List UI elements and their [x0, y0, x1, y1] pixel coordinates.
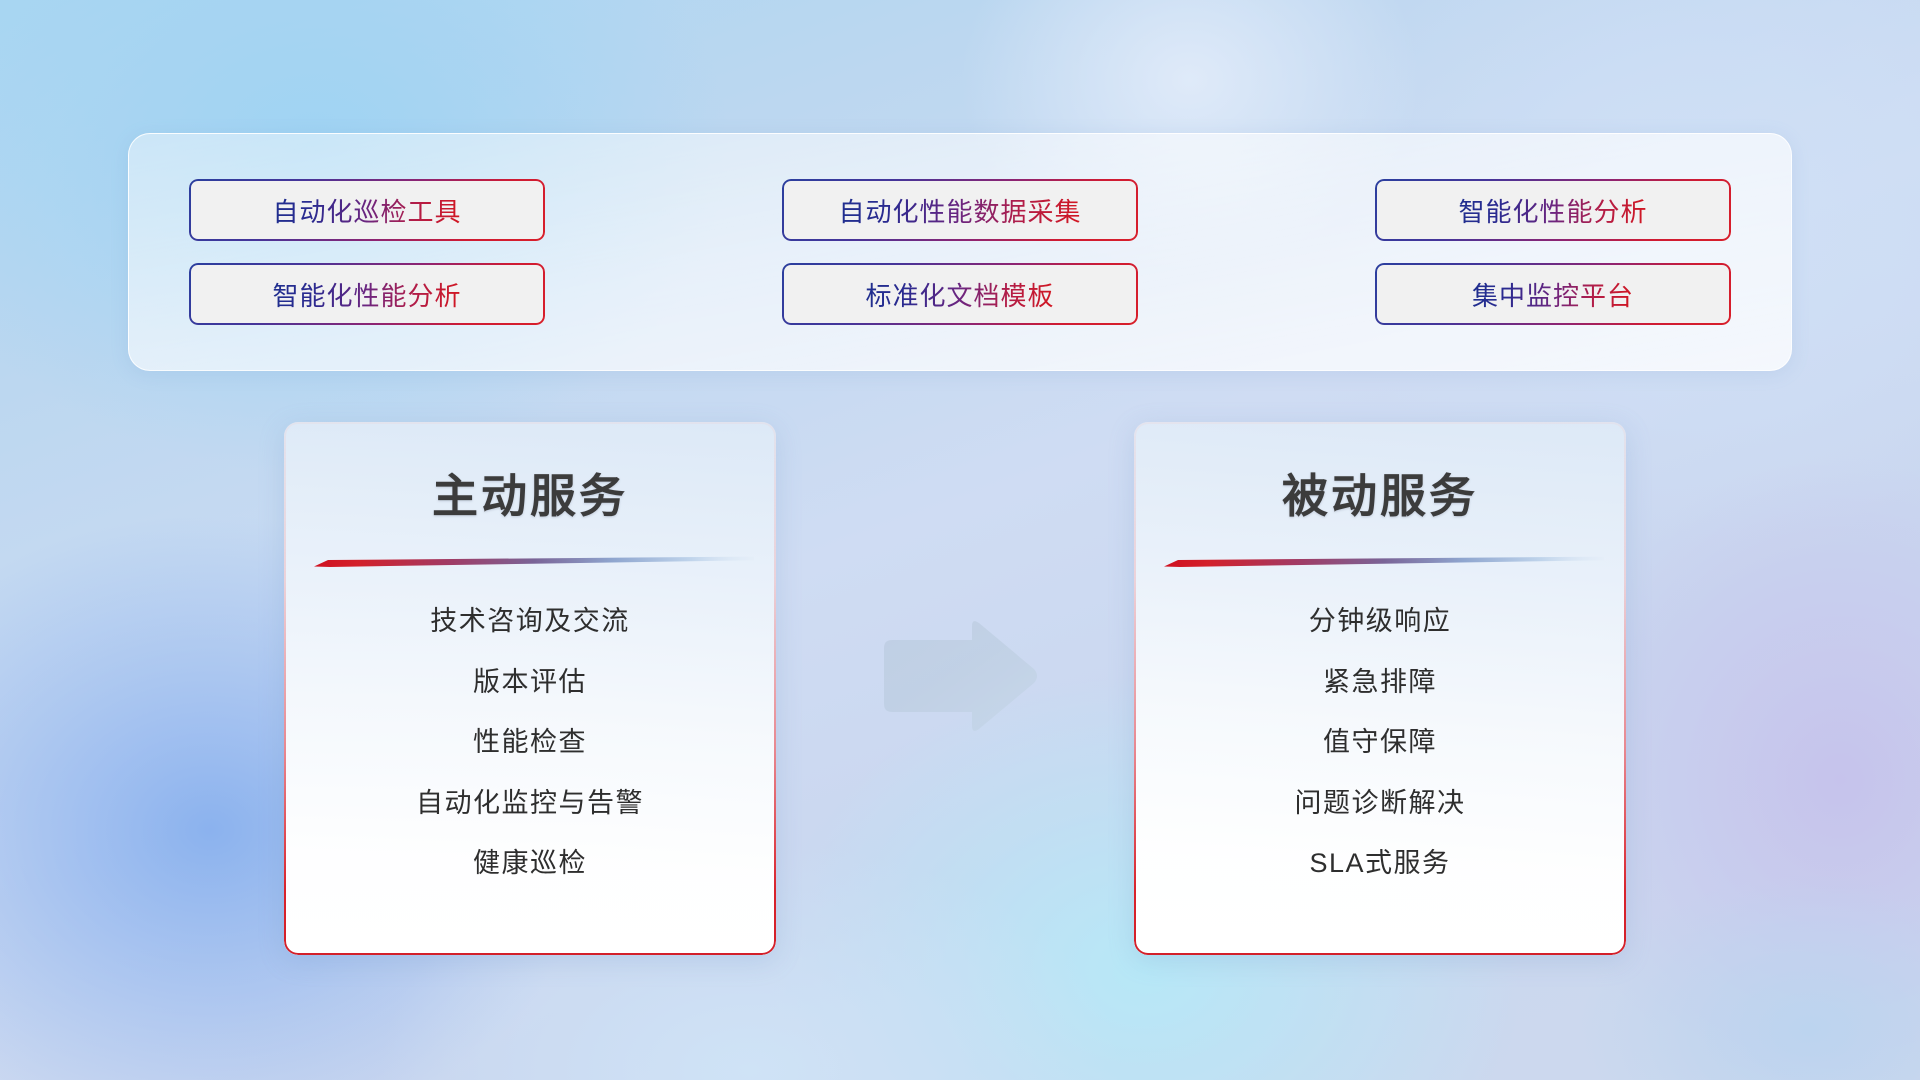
list-item: 健康巡检	[473, 843, 587, 884]
card-divider	[1164, 556, 1604, 567]
list-item: 问题诊断解决	[1295, 783, 1466, 824]
tag-intelligent-performance-analysis-top[interactable]: 智能化性能分析	[1375, 179, 1731, 241]
card-item-list: 分钟级响应 紧急排障 值守保障 问题诊断解决 SLA式服务	[1134, 601, 1626, 884]
list-item: 自动化监控与告警	[416, 783, 644, 824]
tag-label: 自动化性能数据采集	[838, 192, 1081, 229]
list-item: 紧急排障	[1323, 662, 1437, 703]
card-title: 主动服务	[284, 460, 776, 526]
tag-intelligent-performance-analysis[interactable]: 智能化性能分析	[189, 263, 545, 325]
tag-label: 智能化性能分析	[272, 276, 461, 313]
diagram-stage: 自动化巡检工具 自动化性能数据采集 智能化性能分析 智能化性能分析 标准化文档模…	[0, 0, 1920, 1080]
arrow-right-shape	[876, 618, 1040, 734]
tag-label: 智能化性能分析	[1458, 192, 1647, 229]
divider-shape	[314, 556, 754, 567]
list-item: 技术咨询及交流	[430, 601, 630, 642]
capability-tag-panel: 自动化巡检工具 自动化性能数据采集 智能化性能分析 智能化性能分析 标准化文档模…	[128, 133, 1792, 371]
card-title: 被动服务	[1134, 460, 1626, 526]
tag-centralized-monitoring-platform[interactable]: 集中监控平台	[1375, 263, 1731, 325]
arrow-right-icon	[876, 618, 1040, 734]
list-item: SLA式服务	[1309, 843, 1450, 884]
card-divider	[314, 556, 754, 567]
tag-label: 集中监控平台	[1472, 276, 1634, 313]
card-item-list: 技术咨询及交流 版本评估 性能检查 自动化监控与告警 健康巡检	[284, 601, 776, 884]
tag-row-1: 自动化巡检工具 自动化性能数据采集 智能化性能分析	[189, 179, 1731, 241]
tag-row-2: 智能化性能分析 标准化文档模板 集中监控平台	[189, 263, 1731, 325]
tag-label: 自动化巡检工具	[272, 192, 461, 229]
list-item: 值守保障	[1323, 722, 1437, 763]
tag-automated-performance-collection[interactable]: 自动化性能数据采集	[782, 179, 1138, 241]
tag-standardized-document-template[interactable]: 标准化文档模板	[782, 263, 1138, 325]
tag-label: 标准化文档模板	[865, 276, 1054, 313]
service-card-proactive: 主动服务 技术咨询及交流 版本评估	[284, 422, 776, 955]
list-item: 版本评估	[473, 662, 587, 703]
divider-shape	[1164, 556, 1604, 567]
tag-automated-inspection-tool[interactable]: 自动化巡检工具	[189, 179, 545, 241]
list-item: 分钟级响应	[1309, 601, 1452, 642]
list-item: 性能检查	[473, 722, 587, 763]
service-card-reactive: 被动服务 分钟级响应 紧急排障	[1134, 422, 1626, 955]
